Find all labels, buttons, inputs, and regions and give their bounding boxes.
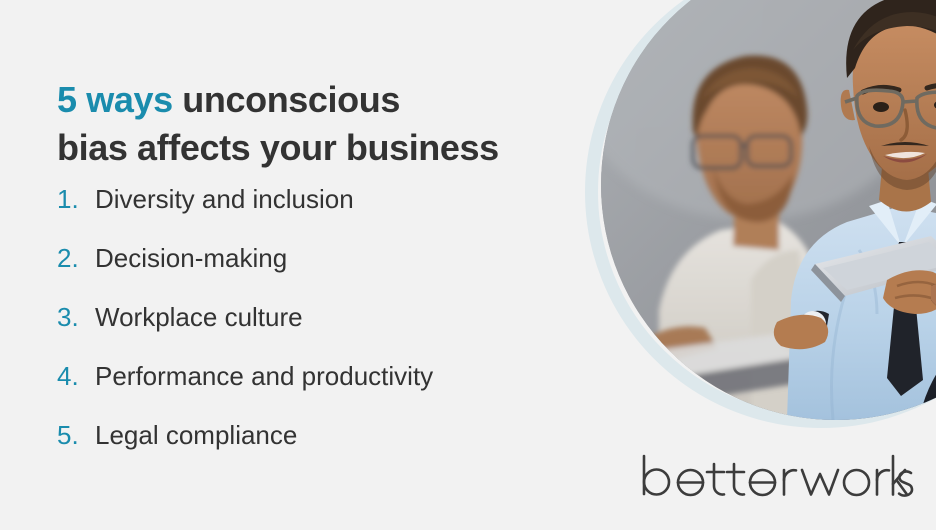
list-item-number: 1.: [57, 183, 95, 215]
list-item: 4. Performance and productivity: [57, 360, 433, 419]
circular-photo: [601, 0, 936, 420]
headline-accent: 5 ways: [57, 79, 173, 120]
photo-illustration: [601, 0, 936, 420]
list-item: 1. Diversity and inclusion: [57, 183, 433, 242]
list-item-number: 2.: [57, 242, 95, 274]
list-item-label: Legal compliance: [95, 419, 297, 451]
list-item-label: Decision-making: [95, 242, 287, 274]
headline-line2: bias affects your business: [57, 127, 499, 168]
list-item: 5. Legal compliance: [57, 419, 433, 478]
list-item-number: 3.: [57, 301, 95, 333]
list-item-label: Workplace culture: [95, 301, 303, 333]
page-title: 5 ways unconsciousbias affects your busi…: [57, 76, 499, 172]
list-item: 3. Workplace culture: [57, 301, 433, 360]
list-item-number: 4.: [57, 360, 95, 392]
headline-rest-line1: unconscious: [173, 79, 400, 120]
reasons-list: 1. Diversity and inclusion 2. Decision-m…: [57, 183, 433, 478]
list-item-label: Diversity and inclusion: [95, 183, 354, 215]
list-item-number: 5.: [57, 419, 95, 451]
betterworks-logo: [640, 450, 915, 505]
betterworks-wordmark: [640, 450, 915, 505]
list-item-label: Performance and productivity: [95, 360, 433, 392]
slide-canvas: 5 ways unconsciousbias affects your busi…: [0, 0, 936, 530]
list-item: 2. Decision-making: [57, 242, 433, 301]
